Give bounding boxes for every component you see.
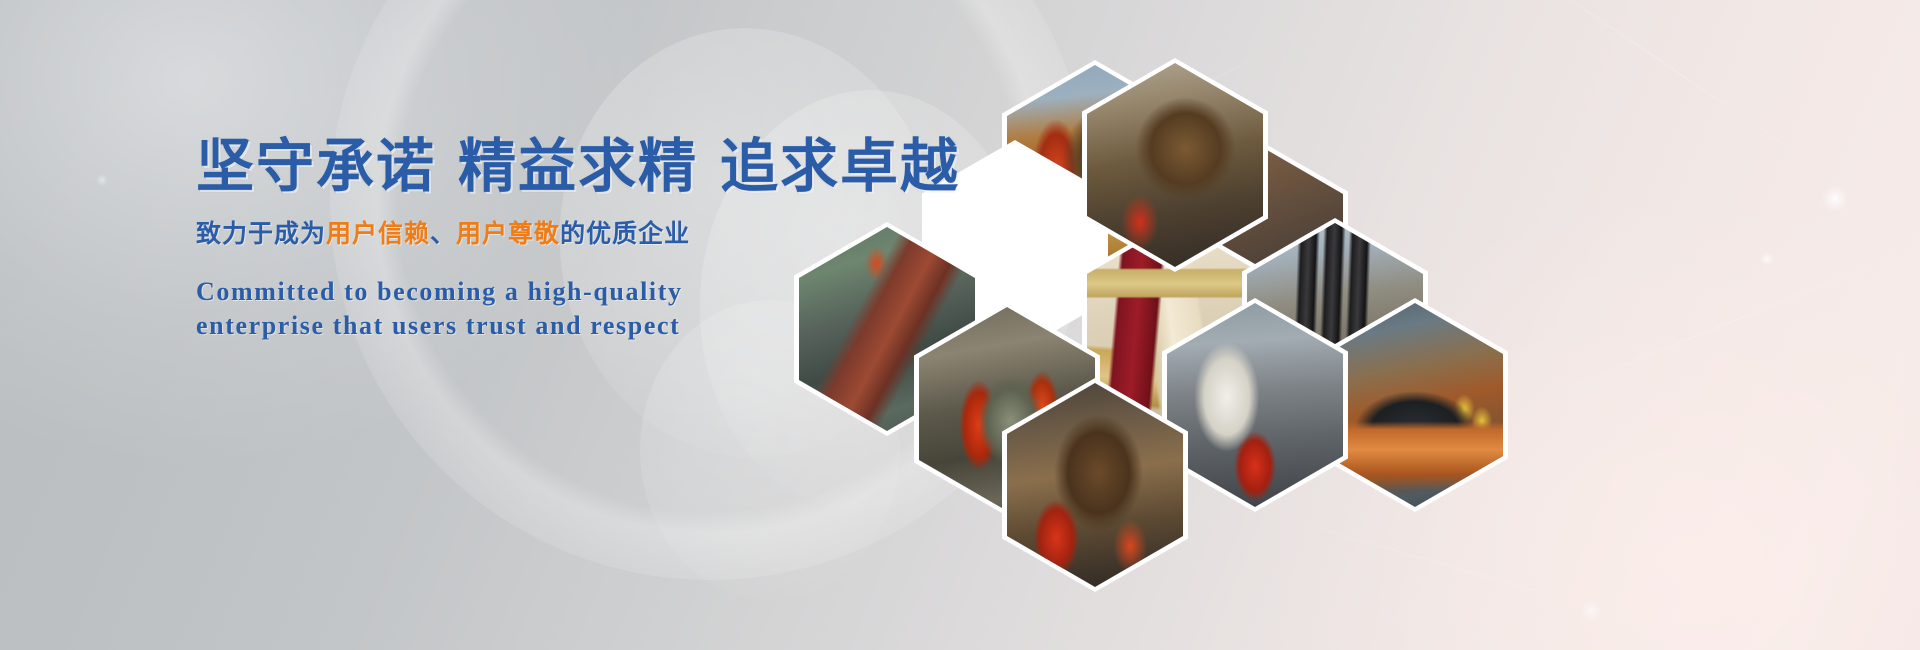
hex-inner-copper-tank bbox=[1327, 303, 1503, 507]
english-slogan: Committed to becoming a high-quality ent… bbox=[196, 275, 956, 345]
headline-part-1: 坚守承诺 bbox=[196, 134, 436, 199]
headline-slogan: 坚守承诺精益求精追求卓越 bbox=[196, 136, 956, 199]
subline-tail: 的优质企业 bbox=[560, 220, 690, 248]
slogan-copy-block: 坚守承诺精益求精追求卓越 致力于成为用户信赖、用户尊敬的优质企业 Committ… bbox=[196, 136, 956, 344]
hex-inner-casting bbox=[1007, 383, 1183, 587]
light-spark-4 bbox=[1580, 600, 1602, 622]
headline-part-3: 追求卓越 bbox=[720, 134, 960, 199]
light-spark-5 bbox=[96, 174, 108, 186]
headline-part-2: 精益求精 bbox=[458, 134, 698, 199]
subline-highlight-1: 用户信赖 bbox=[326, 220, 430, 248]
english-line-2: enterprise that users trust and respect bbox=[196, 309, 956, 344]
subline-highlight-2: 用户尊敬 bbox=[456, 220, 560, 248]
photo-casting bbox=[1007, 383, 1183, 587]
photo-grinder bbox=[1167, 303, 1343, 507]
light-spark-2 bbox=[1760, 252, 1774, 266]
subline-lead: 致力于成为 bbox=[196, 220, 326, 248]
light-streak-4 bbox=[1247, 508, 1613, 614]
light-streak-3 bbox=[1515, 251, 1905, 409]
subline-separator: 、 bbox=[430, 220, 456, 248]
light-streak-2 bbox=[1469, 0, 1851, 190]
photo-copper-tank bbox=[1327, 303, 1503, 507]
company-promo-banner: 坚守承诺精益求精追求卓越 致力于成为用户信赖、用户尊敬的优质企业 Committ… bbox=[0, 0, 1920, 650]
hex-inner-grinder bbox=[1167, 303, 1343, 507]
hex-inner-rotor-bronze bbox=[1087, 63, 1263, 267]
light-spark-1 bbox=[1822, 186, 1848, 212]
english-line-1: Committed to becoming a high-quality bbox=[196, 275, 956, 310]
photo-rotor-bronze bbox=[1087, 63, 1263, 267]
subheadline-slogan: 致力于成为用户信赖、用户尊敬的优质企业 bbox=[196, 219, 956, 249]
